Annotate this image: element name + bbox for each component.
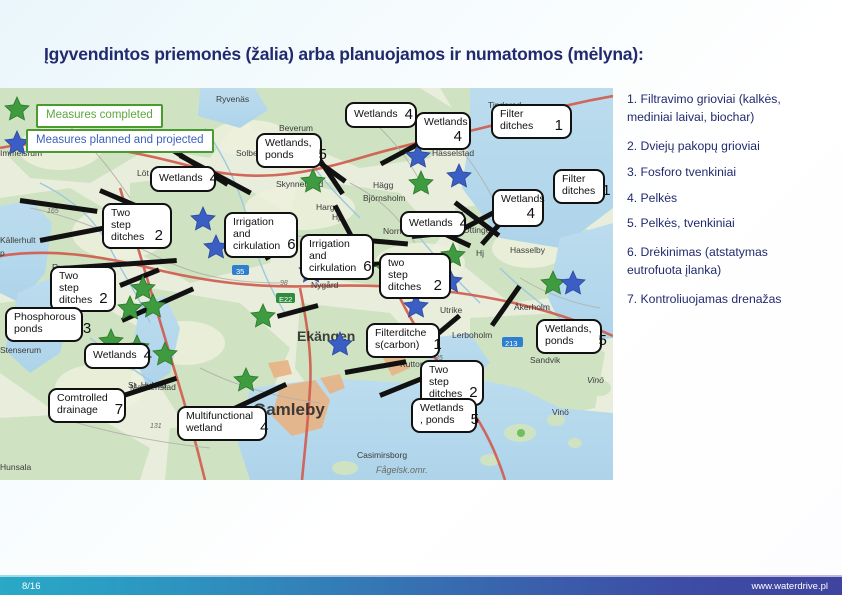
measures-list: 1. Filtravimo grioviai (kalkės, mediniai… bbox=[627, 90, 835, 319]
callout-number: 1 bbox=[599, 183, 610, 198]
callout-wetlands-ponds: Wetlands, ponds 5 bbox=[536, 319, 602, 354]
measure-item-7: 7. Kontroliuojamas drenažas bbox=[627, 293, 835, 305]
svg-text:Hunsala: Hunsala bbox=[0, 462, 31, 472]
footer-bar: 8/16 www.waterdrive.pl bbox=[0, 577, 842, 595]
svg-text:Lerboholm: Lerboholm bbox=[452, 330, 492, 340]
callout-text: Filter ditches bbox=[562, 174, 595, 198]
page-number: 8/16 bbox=[22, 581, 41, 592]
marker-green-star[interactable] bbox=[250, 303, 276, 329]
svg-text:Ryvenäs: Ryvenäs bbox=[216, 94, 249, 104]
svg-text:Björnsholm: Björnsholm bbox=[363, 193, 406, 203]
svg-text:98: 98 bbox=[280, 280, 288, 287]
callout-text: Wetlands bbox=[424, 117, 468, 129]
svg-text:165: 165 bbox=[47, 208, 59, 215]
marker-green-star[interactable] bbox=[4, 96, 30, 122]
callout-number: 5 bbox=[316, 147, 327, 162]
callout-number: 5 bbox=[468, 412, 479, 427]
svg-text:Fågelsk.omr.: Fågelsk.omr. bbox=[376, 465, 428, 475]
measure-item-4: 4. Pelkės bbox=[627, 192, 835, 204]
marker-blue-star[interactable] bbox=[327, 331, 353, 357]
callout-phosphorous-ponds: Phosphorous ponds 3 bbox=[5, 307, 83, 342]
svg-text:Stenserum: Stenserum bbox=[0, 345, 41, 355]
callout-multifunctional-wetland: Multifunctional wetland 4 bbox=[177, 406, 267, 441]
callout-wetlands: Wetlands 4 bbox=[84, 343, 150, 369]
marker-green-star[interactable] bbox=[140, 293, 166, 319]
marker-green-star[interactable] bbox=[152, 341, 178, 367]
svg-text:E22: E22 bbox=[279, 295, 292, 304]
callout-text: two step ditches bbox=[388, 258, 427, 293]
callout-number: 7 bbox=[112, 402, 123, 417]
svg-text:Utrike: Utrike bbox=[440, 305, 462, 315]
measure-item-6: 6. Drėkinimas (atstatymas eutrofuota įla… bbox=[627, 243, 835, 280]
callout-text: Filter ditches bbox=[500, 109, 548, 133]
callout-two-step-ditches: Two step ditches 2 bbox=[102, 203, 172, 249]
svg-text:Hj: Hj bbox=[476, 248, 484, 258]
callout-number: 2 bbox=[431, 278, 442, 293]
svg-text:Åkerholm: Åkerholm bbox=[514, 302, 550, 312]
callout-number: 4 bbox=[207, 171, 218, 186]
callout-wetlands: Wetlands 4 bbox=[492, 189, 544, 227]
svg-text:35: 35 bbox=[236, 267, 244, 276]
callout-controlled-drainage: Comtrolled drainage 7 bbox=[48, 388, 126, 423]
marker-green-star[interactable] bbox=[300, 168, 326, 194]
legend-measures-completed: Measures completed bbox=[36, 104, 163, 128]
svg-text:Vinö: Vinö bbox=[552, 407, 569, 417]
callout-filter-ditches: Filter ditches 1 bbox=[553, 169, 605, 204]
callout-number: 4 bbox=[402, 107, 413, 122]
callout-number: 4 bbox=[141, 348, 152, 363]
callout-text: Wetlands, ponds bbox=[545, 324, 592, 348]
legend-measures-planned: Measures planned and projected bbox=[26, 129, 214, 153]
measure-item-3: 3. Fosforo tvenkiniai bbox=[627, 166, 835, 178]
marker-blue-star[interactable] bbox=[560, 270, 586, 296]
callout-filter-ditches: Filter ditches 1 bbox=[491, 104, 572, 139]
callout-number: 6 bbox=[284, 237, 295, 252]
svg-text:Källerhult: Källerhult bbox=[0, 235, 36, 245]
callout-wetlands: Wetlands 4 bbox=[150, 166, 216, 192]
callout-number: 1 bbox=[430, 337, 441, 352]
map-figure[interactable]: Ryvenäs Beverum Solberga Skynnerstad Har… bbox=[0, 88, 613, 480]
callout-irrigation-circulation: Irrigation and cirkulation 6 bbox=[300, 234, 374, 280]
callout-text: Two step ditches bbox=[59, 271, 92, 306]
svg-text:Hasselby: Hasselby bbox=[510, 245, 546, 255]
callout-wetlands: Wetlands 4 bbox=[400, 211, 466, 237]
callout-text: Wetlands bbox=[501, 194, 545, 206]
callout-irrigation-circulation: Irrigation and cirkulation 6 bbox=[224, 212, 298, 258]
marker-green-star[interactable] bbox=[408, 170, 434, 196]
callout-number: 6 bbox=[360, 259, 371, 274]
callout-wetlands: Wetlands 4 bbox=[345, 102, 417, 128]
callout-text: Irrigation and cirkulation bbox=[233, 217, 280, 252]
marker-blue-star[interactable] bbox=[446, 163, 472, 189]
callout-text: Wetlands bbox=[354, 109, 398, 121]
callout-two-step-ditches: two step ditches 2 bbox=[379, 253, 451, 299]
svg-text:131: 131 bbox=[150, 423, 162, 430]
marker-blue-star[interactable] bbox=[190, 206, 216, 232]
callout-two-step-ditches: Two step ditches 2 bbox=[50, 266, 116, 312]
callout-number: 3 bbox=[80, 321, 91, 336]
callout-text: Irrigation and cirkulation bbox=[309, 239, 356, 274]
callout-number: 4 bbox=[457, 216, 468, 231]
callout-filterditches-carbon: Filterditche s(carbon) 1 bbox=[366, 323, 440, 358]
callout-wetlands: Wetlands 4 bbox=[415, 112, 471, 150]
callout-text: Wetlands, ponds bbox=[265, 138, 312, 162]
callout-number: 4 bbox=[524, 206, 535, 221]
callout-text: Multifunctional wetland bbox=[186, 411, 253, 435]
callout-number: 2 bbox=[96, 291, 107, 306]
callout-text: Comtrolled drainage bbox=[57, 393, 108, 417]
callout-text: Wetlands , ponds bbox=[420, 403, 464, 427]
measure-item-5: 5. Pelkės, tvenkiniai bbox=[627, 217, 835, 229]
callout-number: 4 bbox=[257, 420, 268, 435]
page-title: Įgyvendintos priemonės (žalia) arba plan… bbox=[44, 44, 824, 65]
callout-number: 2 bbox=[152, 228, 163, 243]
callout-text: Two step ditches bbox=[111, 208, 148, 243]
svg-text:Harg: Harg bbox=[316, 202, 335, 212]
callout-text: Phosphorous ponds bbox=[14, 312, 76, 336]
callout-text: Filterditche s(carbon) bbox=[375, 328, 426, 352]
svg-text:Sandvik: Sandvik bbox=[530, 355, 561, 365]
svg-text:Casimirsborg: Casimirsborg bbox=[357, 450, 407, 460]
callout-text: Wetlands bbox=[159, 173, 203, 185]
callout-text: Wetlands bbox=[93, 350, 137, 362]
measure-item-1: 1. Filtravimo grioviai (kalkės, mediniai… bbox=[627, 90, 835, 127]
svg-text:Beverum: Beverum bbox=[279, 123, 313, 133]
callout-text: Wetlands bbox=[409, 218, 453, 230]
callout-wetlands-ponds: Wetlands, ponds 5 bbox=[256, 133, 322, 168]
svg-text:p: p bbox=[0, 248, 5, 258]
callout-number: 4 bbox=[451, 129, 462, 144]
svg-text:Löt: Löt bbox=[137, 168, 149, 178]
svg-text:213: 213 bbox=[505, 339, 518, 348]
callout-text: Two step ditches bbox=[429, 365, 462, 400]
callout-number: 5 bbox=[596, 333, 607, 348]
measure-item-2: 2. Dviejų pakopų grioviai bbox=[627, 140, 835, 152]
svg-text:Hägg: Hägg bbox=[373, 180, 394, 190]
marker-green-star[interactable] bbox=[233, 367, 259, 393]
callout-wetlands-ponds: Wetlands , ponds 5 bbox=[411, 398, 477, 433]
footer-url[interactable]: www.waterdrive.pl bbox=[751, 581, 828, 592]
callout-number: 1 bbox=[552, 118, 563, 133]
svg-text:Vinö: Vinö bbox=[587, 375, 604, 385]
